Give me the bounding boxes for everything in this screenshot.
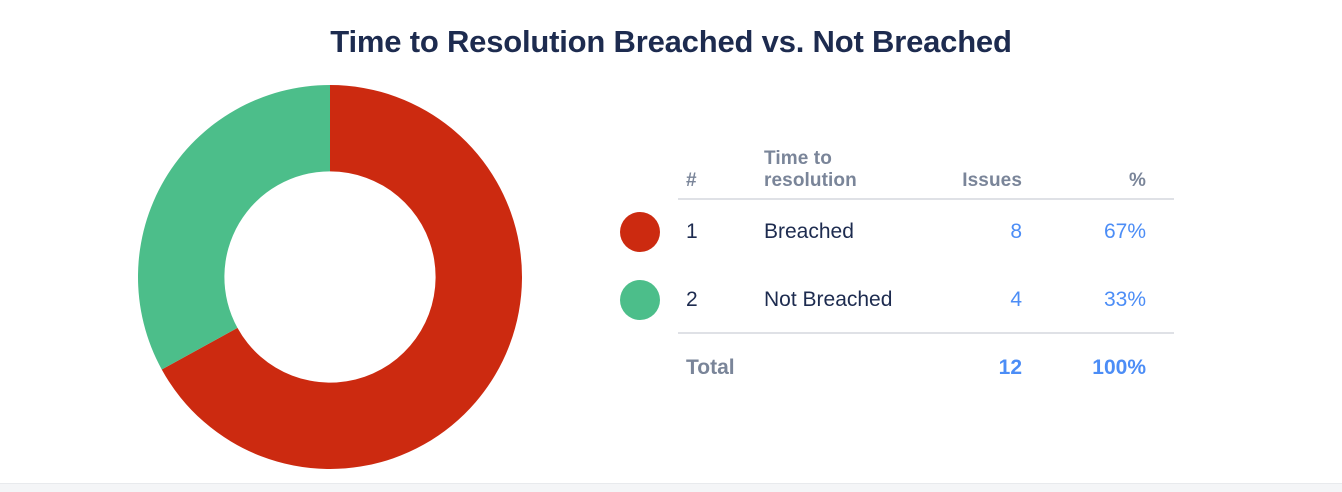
legend-table: # Time to resolution Issues % 1 Breached… — [618, 152, 1174, 402]
table-row[interactable]: 1 Breached 8 67% — [618, 198, 1174, 266]
row-percent-value[interactable]: 33% — [1046, 288, 1174, 312]
donut-slice-not-breached[interactable] — [138, 85, 330, 369]
row-index: 1 — [678, 220, 724, 244]
table-header-row: # Time to resolution Issues % — [618, 152, 1174, 198]
row-index: 2 — [678, 288, 724, 312]
row-percent-value[interactable]: 67% — [1046, 220, 1174, 244]
donut-chart-svg — [138, 85, 522, 469]
legend-swatch-not-breached — [620, 280, 660, 320]
column-header-percent: % — [1046, 170, 1174, 192]
legend-swatch-cell — [618, 212, 678, 252]
donut-chart — [138, 85, 522, 469]
total-issues-value[interactable]: 12 — [928, 356, 1046, 380]
column-header-label: Time to resolution — [724, 148, 928, 192]
column-header-index: # — [678, 170, 724, 192]
row-issues-value[interactable]: 4 — [928, 288, 1046, 312]
table-row[interactable]: 2 Not Breached 4 33% — [618, 266, 1174, 334]
legend-swatch-breached — [620, 212, 660, 252]
column-header-issues: Issues — [928, 170, 1046, 192]
legend-swatch-cell — [618, 280, 678, 320]
row-label: Not Breached — [724, 288, 928, 312]
total-divider — [678, 332, 1174, 334]
row-label: Breached — [724, 220, 928, 244]
total-label: Total — [678, 356, 724, 380]
bottom-strip — [0, 483, 1342, 492]
chart-panel: Time to Resolution Breached vs. Not Brea… — [0, 0, 1342, 492]
total-percent-value[interactable]: 100% — [1046, 356, 1174, 380]
page-title: Time to Resolution Breached vs. Not Brea… — [0, 22, 1342, 62]
table-total-row: Total 12 100% — [618, 334, 1174, 402]
row-issues-value[interactable]: 8 — [928, 220, 1046, 244]
